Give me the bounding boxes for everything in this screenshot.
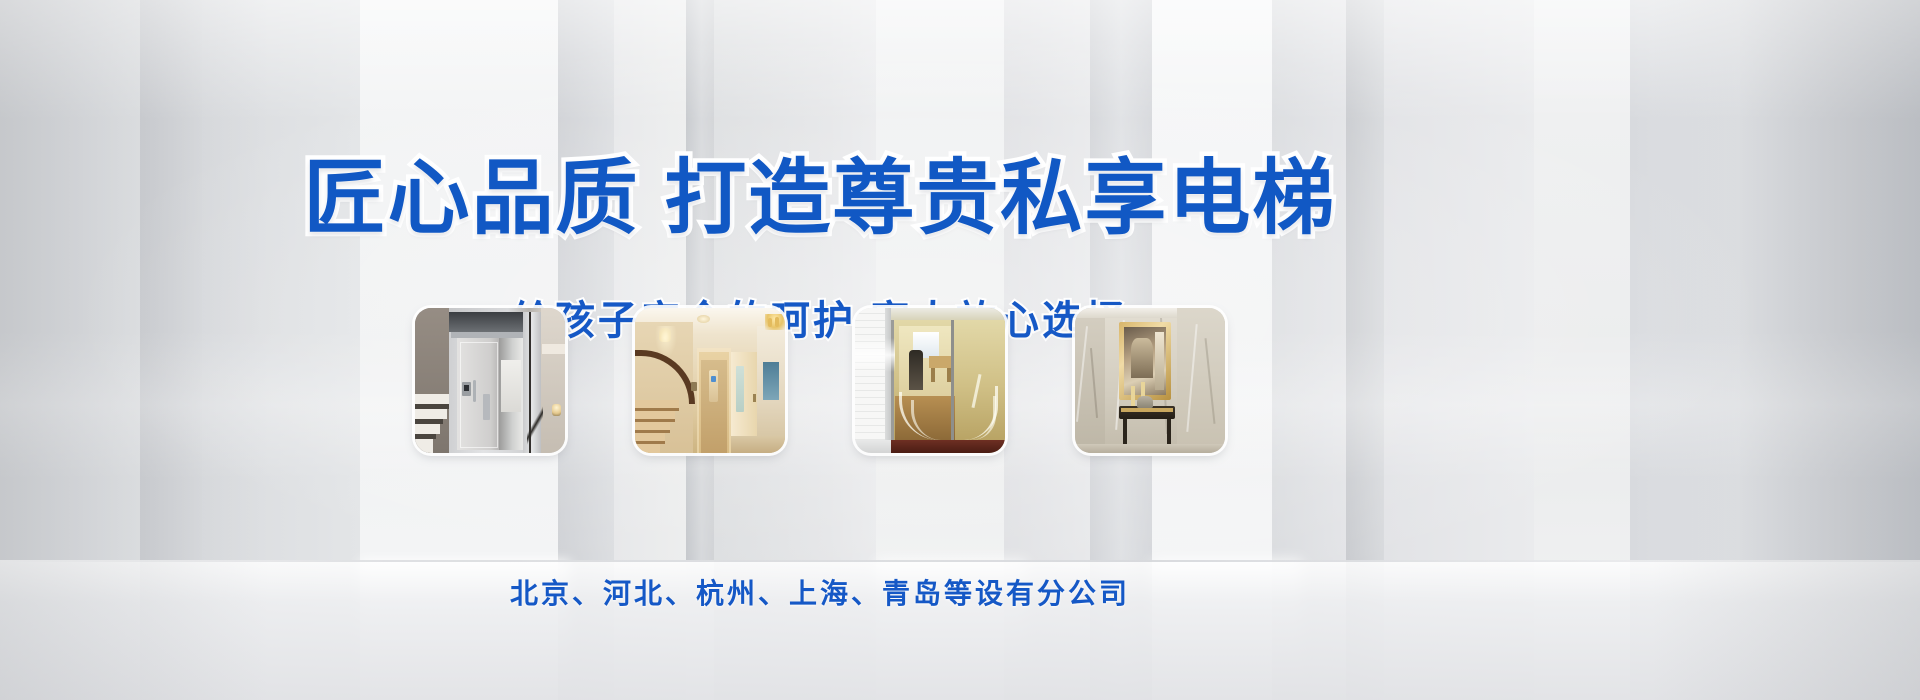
banner-content: 匠心品质 打造尊贵私享电梯 给孩子安全的呵护 家人放心选择 xyxy=(0,0,1920,700)
hero-banner: 匠心品质 打造尊贵私享电梯 给孩子安全的呵护 家人放心选择 xyxy=(0,0,1920,700)
thumbnail-image-2 xyxy=(635,308,785,453)
thumbnail-gallery xyxy=(0,308,1640,453)
thumbnail-glass-door-elevator[interactable] xyxy=(855,308,1005,453)
thumbnail-image-4 xyxy=(1075,308,1225,453)
thumbnail-marble-lobby-elevator[interactable] xyxy=(1075,308,1225,453)
thumbnail-image-1 xyxy=(415,308,565,453)
banner-headline: 匠心品质 打造尊贵私享电梯 xyxy=(0,147,1640,252)
branch-offices-note: 北京、河北、杭州、上海、青岛等设有分公司 xyxy=(0,572,1640,612)
thumbnail-image-3 xyxy=(855,308,1005,453)
thumbnail-home-elevator-silver[interactable] xyxy=(415,308,565,453)
thumbnail-beige-hall-elevator[interactable] xyxy=(635,308,785,453)
